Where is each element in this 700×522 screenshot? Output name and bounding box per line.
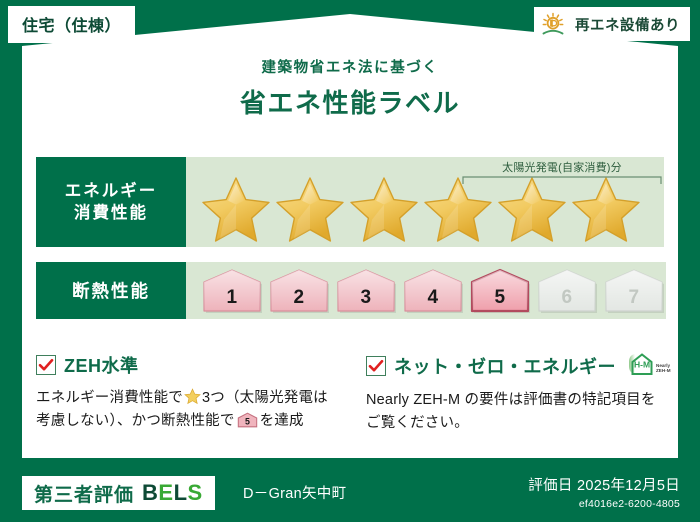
insulation-level-strip: 1 2 3 (186, 268, 666, 314)
certificate-id: ef4016e2-6200-4805 (528, 498, 680, 510)
zeh-level-statement: ZEH水準 エネルギー消費性能で3つ（太陽光発電は考慮しない）、かつ断熱性能で5… (36, 352, 336, 434)
insulation-level-number: 6 (535, 287, 599, 309)
inline-house-badge-icon: 5 (237, 412, 258, 428)
zeh-statement-header: ZEH水準 (36, 352, 336, 378)
insulation-level-number: 1 (200, 287, 264, 309)
renewable-badge-label: 再エネ設備あり (575, 14, 680, 35)
star-2 (274, 174, 346, 242)
insulation-performance-value: 1 2 3 (186, 262, 666, 319)
svg-text:H-M: H-M (634, 360, 650, 370)
checkbox-checked-icon (366, 356, 386, 376)
insulation-level-6: 6 (535, 268, 599, 314)
star-3 (348, 174, 420, 242)
energy-performance-label: エネルギー 消費性能 (36, 157, 186, 247)
svg-text:ZEH-M: ZEH-M (656, 368, 671, 373)
zeh-body-post: を達成 (260, 413, 304, 429)
nze-statement-title: ネット・ゼロ・エネルギー (394, 353, 616, 379)
insulation-level-number: 7 (602, 287, 666, 309)
evaluation-date: 評価日 2025年12月5日 (528, 474, 680, 495)
star-icon (422, 174, 494, 242)
solar-sun-icon (540, 11, 570, 37)
insulation-label-text: 断熱性能 (72, 278, 150, 303)
star-rating-strip (186, 174, 664, 242)
title-block: 建築物省エネ法に基づく 省エネ性能ラベル (0, 56, 700, 120)
star-6 (570, 174, 642, 242)
star-icon (348, 174, 420, 242)
insulation-level-7: 7 (602, 268, 666, 314)
insulation-level-2: 2 (267, 268, 331, 314)
svg-text:5: 5 (245, 417, 250, 427)
net-zero-energy-statement: ネット・ゼロ・エネルギー H-M Nearly ZEH-M Nearly ZEH… (366, 352, 666, 436)
nze-statement-body: Nearly ZEH-M の要件は評価書の特記項目をご覧ください。 (366, 389, 666, 436)
star-icon (496, 174, 568, 242)
bels-letter-l: L (174, 480, 188, 505)
checkbox-checked-icon (36, 355, 56, 375)
insulation-level-3: 3 (334, 268, 398, 314)
bels-letter-e: E (158, 480, 173, 505)
insulation-level-1: 1 (200, 268, 264, 314)
nearly-zeh-m-logo-icon: H-M Nearly ZEH-M (626, 352, 672, 380)
bels-wordmark: BELS (142, 480, 203, 506)
star-icon (570, 174, 642, 242)
housing-type-label: 住宅（住棟） (22, 18, 121, 35)
zeh-body-pre: エネルギー消費性能で (36, 390, 183, 406)
insulation-level-number: 2 (267, 287, 331, 309)
evaluation-date-value: 2025年12月5日 (577, 478, 680, 494)
bels-letter-s: S (188, 480, 203, 505)
insulation-performance-row: 断熱性能 1 2 (36, 262, 664, 319)
insulation-level-5: 5 (468, 268, 532, 314)
insulation-level-number: 3 (334, 287, 398, 309)
star-1 (200, 174, 272, 242)
energy-label-line2: 消費性能 (74, 202, 148, 224)
insulation-level-number: 5 (468, 287, 532, 309)
nze-statement-header: ネット・ゼロ・エネルギー H-M Nearly ZEH-M (366, 352, 666, 380)
insulation-level-number: 4 (401, 287, 465, 309)
page-title: 省エネ性能ラベル (0, 83, 700, 120)
energy-label-line1: エネルギー (65, 180, 158, 202)
zeh-statement-title: ZEH水準 (64, 352, 139, 378)
star-4 (422, 174, 494, 242)
inline-star-icon (184, 388, 201, 405)
insulation-level-4: 4 (401, 268, 465, 314)
evaluation-date-label: 評価日 (528, 478, 572, 494)
zeh-statement-body: エネルギー消費性能で3つ（太陽光発電は考慮しない）、かつ断熱性能で5を達成 (36, 387, 336, 434)
footer-evaluation-info: 評価日 2025年12月5日 ef4016e2-6200-4805 (528, 474, 680, 510)
bels-footer-badge: 第三者評価 BELS (22, 476, 215, 510)
star-icon (274, 174, 346, 242)
energy-performance-value: 太陽光発電(自家消費)分 (186, 157, 664, 247)
bels-letter-b: B (142, 480, 158, 505)
third-party-label: 第三者評価 (34, 480, 134, 507)
title-subtitle: 建築物省エネ法に基づく (0, 56, 700, 77)
insulation-performance-label: 断熱性能 (36, 262, 186, 319)
solar-annotation-label: 太陽光発電(自家消費)分 (462, 159, 662, 175)
building-name: D－Gran矢中町 (243, 482, 346, 503)
bels-energy-label: 住宅（住棟） 再エネ設備あり 建築 (0, 0, 700, 522)
energy-performance-row: エネルギー 消費性能 太陽光発電(自家消費)分 (36, 157, 664, 247)
star-icon (200, 174, 272, 242)
renewable-equipment-badge: 再エネ設備あり (534, 7, 690, 41)
star-5 (496, 174, 568, 242)
housing-type-tag: 住宅（住棟） (8, 6, 135, 43)
